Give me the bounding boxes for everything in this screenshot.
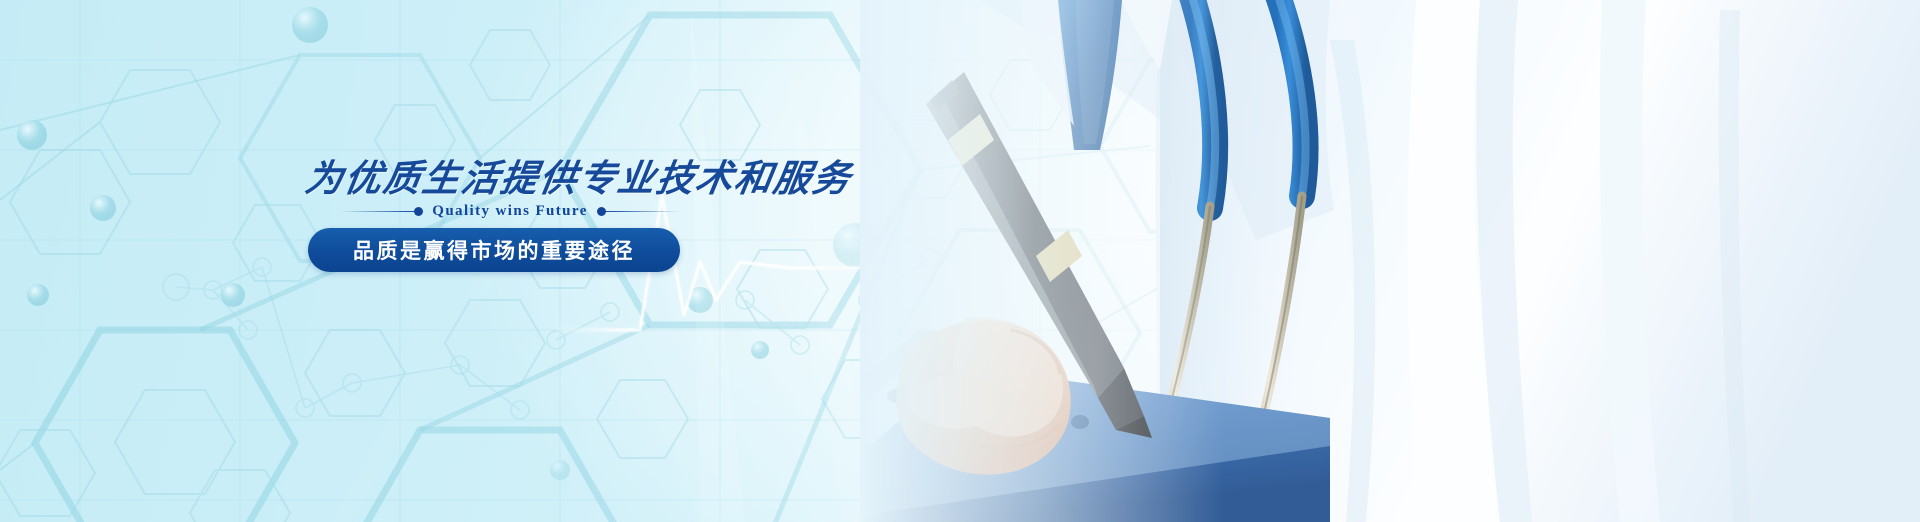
tagline-rule-right [606,211,680,212]
page-title: 为优质生活提供专业技术和服务 [302,156,855,202]
banner-copy: 为优质生活提供专业技术和服务 Quality wins Future 品质是赢得… [0,0,900,522]
tagline-english: Quality wins Future [423,203,597,220]
tagline-dot-right [597,207,606,216]
cta-button-label: 品质是赢得市场的重要途径 [353,235,635,265]
tagline-row: Quality wins Future [340,200,680,222]
tagline-rule-left [340,211,414,212]
cta-button[interactable]: 品质是赢得市场的重要途径 [308,228,680,272]
hero-banner: 为优质生活提供专业技术和服务 Quality wins Future 品质是赢得… [0,0,1920,522]
doctor-photo [860,0,1920,522]
tagline-dot-left [414,207,423,216]
